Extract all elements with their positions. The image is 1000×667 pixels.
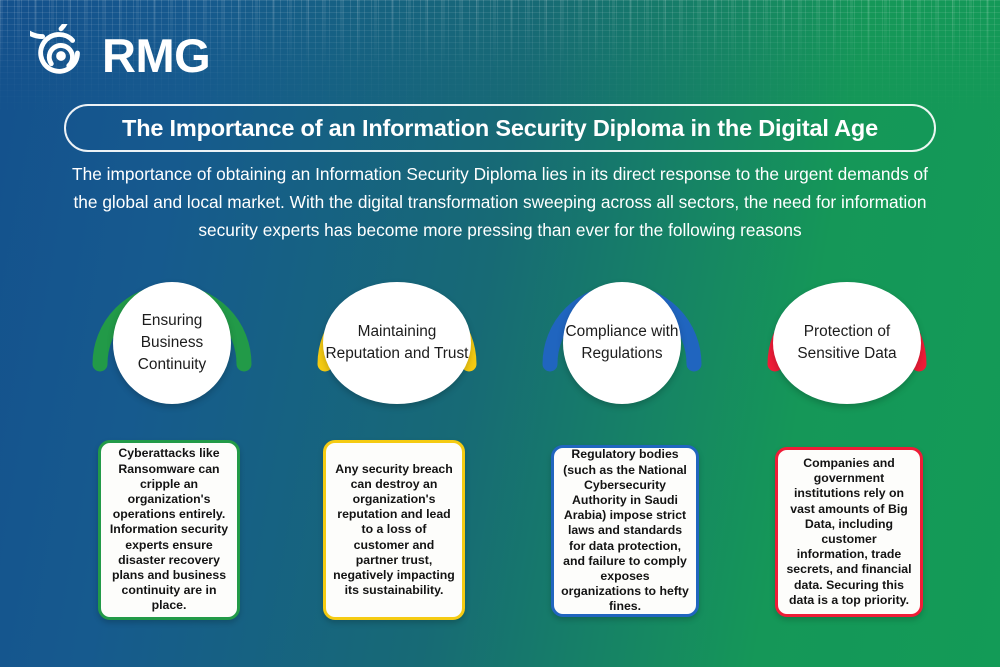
page-title-box: The Importance of an Information Securit…: [64, 104, 936, 152]
pillar-circle-reputation-trust: Maintaining Reputation and Trust: [292, 268, 502, 418]
detail-card-reputation-trust[interactable]: Any security breach can destroy an organ…: [323, 440, 465, 620]
detail-card-text: Companies and government institutions re…: [785, 456, 913, 608]
brand-logo: RMG: [30, 24, 210, 86]
pillar-bubble: Compliance with Regulations: [563, 282, 681, 404]
page-subtitle: The importance of obtaining an Informati…: [62, 160, 938, 244]
pillar-circle-compliance-regulations: Compliance with Regulations: [517, 268, 727, 418]
infographic-poster: RMG The Importance of an Information Sec…: [0, 0, 1000, 667]
brand-name: RMG: [102, 32, 210, 79]
pillar-title: Compliance with Regulations: [565, 321, 679, 365]
spiral-target-icon: [30, 24, 92, 86]
pillar-title: Maintaining Reputation and Trust: [325, 321, 469, 365]
pillar-bubble: Maintaining Reputation and Trust: [323, 282, 471, 404]
detail-card-text: Any security breach can destroy an organ…: [333, 462, 455, 599]
detail-card-business-continuity[interactable]: Cyberattacks like Ransomware can cripple…: [98, 440, 240, 620]
pillar-circle-business-continuity: Ensuring Business Continuity: [67, 268, 277, 418]
detail-card-text: Regulatory bodies (such as the National …: [561, 447, 689, 614]
pillar-bubble: Protection of Sensitive Data: [773, 282, 921, 404]
pillar-title: Protection of Sensitive Data: [775, 321, 919, 365]
detail-card-compliance-regulations[interactable]: Regulatory bodies (such as the National …: [551, 445, 699, 617]
detail-card-text: Cyberattacks like Ransomware can cripple…: [108, 446, 230, 613]
pillar-circle-sensitive-data: Protection of Sensitive Data: [742, 268, 952, 418]
pillars-circles-row: Ensuring Business Continuity Maintaining…: [0, 268, 1000, 418]
pillar-title: Ensuring Business Continuity: [115, 310, 229, 376]
detail-card-sensitive-data[interactable]: Companies and government institutions re…: [775, 447, 923, 617]
pillar-bubble: Ensuring Business Continuity: [113, 282, 231, 404]
page-title: The Importance of an Information Securit…: [122, 115, 878, 142]
